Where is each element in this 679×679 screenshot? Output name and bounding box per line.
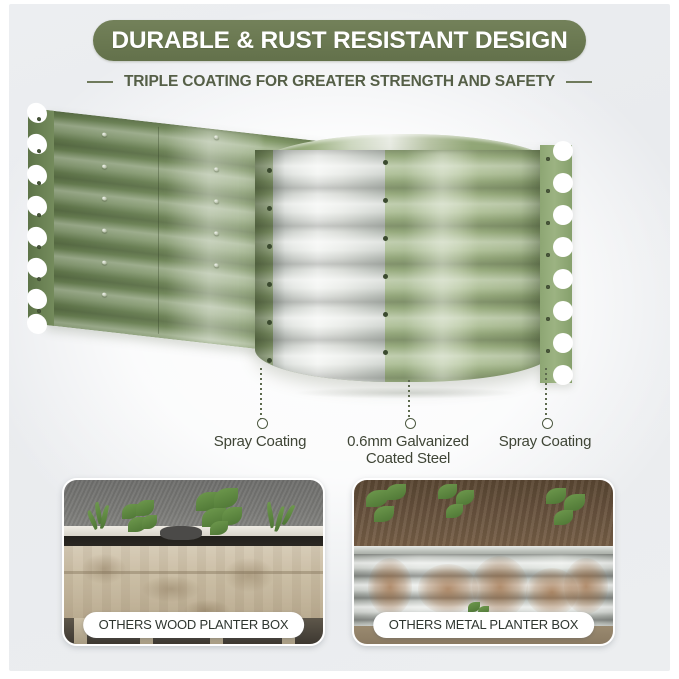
- seedling-plant: [432, 482, 484, 530]
- body-specular-highlight: [405, 150, 479, 382]
- herb-plant: [86, 502, 120, 542]
- rosemary-plant: [260, 502, 300, 544]
- panel-gloss-highlight: [166, 124, 262, 350]
- callout-line-2: Coated Steel: [329, 450, 487, 467]
- caption-pill-metal: OTHERS METAL PLANTER BOX: [373, 612, 595, 638]
- galvanized-steel-surface: [273, 150, 385, 382]
- leader-dashes: [408, 380, 410, 420]
- panel-scallop-edge: [28, 108, 54, 326]
- comparison-section: OTHERS WOOD PLANTER BOX: [0, 478, 679, 650]
- leader-line-spray-left: [260, 368, 262, 420]
- comparison-panel-metal: OTHERS METAL PLANTER BOX: [352, 478, 615, 646]
- infographic-canvas: DURABLE & RUST RESISTANT DESIGN TRIPLE C…: [0, 0, 679, 679]
- decorative-rock: [160, 526, 202, 540]
- page-title: DURABLE & RUST RESISTANT DESIGN: [111, 27, 567, 55]
- caption-text-wood: OTHERS WOOD PLANTER BOX: [99, 617, 289, 632]
- bed-body-surface: [255, 150, 555, 382]
- leader-line-spray-right: [545, 368, 547, 420]
- dash-right-decoration: [566, 81, 592, 83]
- leader-endpoint-ring: [542, 418, 553, 429]
- caption-text-metal: OTHERS METAL PLANTER BOX: [389, 617, 579, 632]
- callout-label-spray-right: Spray Coating: [470, 433, 620, 450]
- dash-left-decoration: [87, 81, 113, 83]
- basil-plant: [116, 498, 160, 542]
- wood-siding: [64, 546, 323, 620]
- curved-bed-body: [255, 138, 555, 393]
- caption-pill-wood: OTHERS WOOD PLANTER BOX: [83, 612, 305, 638]
- callout-line-1: 0.6mm Galvanized: [329, 433, 487, 450]
- comparison-panel-wood: OTHERS WOOD PLANTER BOX: [62, 478, 325, 646]
- flange-scallop-edge: [554, 145, 580, 360]
- panel-seam-line: [158, 127, 159, 334]
- title-banner: DURABLE & RUST RESISTANT DESIGN: [93, 20, 586, 61]
- callout-section: Spray Coating 0.6mm Galvanized Coated St…: [0, 360, 679, 470]
- leader-endpoint-ring: [257, 418, 268, 429]
- page-subtitle: TRIPLE COATING FOR GREATER STRENGTH AND …: [124, 73, 555, 91]
- weed-plant: [362, 484, 418, 536]
- subtitle-row: TRIPLE COATING FOR GREATER STRENGTH AND …: [0, 70, 679, 94]
- body-shadow-left: [255, 150, 285, 382]
- leader-dashes: [260, 368, 262, 420]
- leader-dashes: [545, 368, 547, 420]
- callout-label-spray-left: Spray Coating: [185, 433, 335, 450]
- tomato-plant: [538, 486, 594, 538]
- leader-endpoint-ring: [405, 418, 416, 429]
- callout-label-galvanized: 0.6mm Galvanized Coated Steel: [329, 433, 487, 467]
- leader-line-galvanized: [408, 380, 410, 420]
- bed-right-flange: [540, 145, 572, 383]
